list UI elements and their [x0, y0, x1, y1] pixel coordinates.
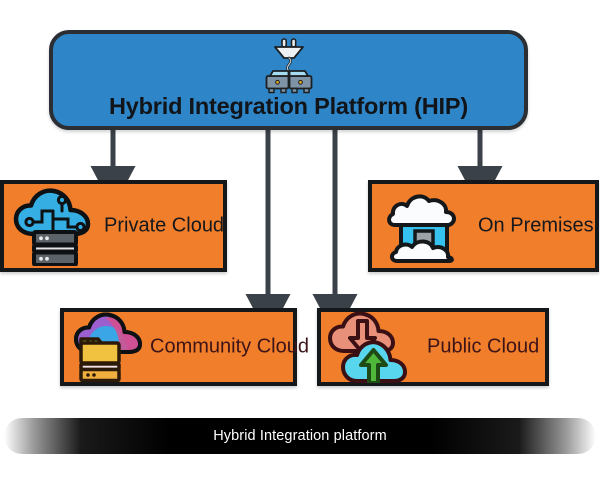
node-public-cloud[interactable]: Public Cloud	[317, 308, 549, 386]
node-label-on-premises: On Premises	[478, 215, 594, 238]
node-label-community-cloud: Community Cloud	[150, 336, 309, 359]
node-on-premises[interactable]: On Premises	[368, 180, 599, 272]
hip-title: Hybrid Integration Platform (HIP)	[53, 93, 524, 120]
caption-bar: Hybrid Integration platform	[4, 418, 596, 454]
node-private-cloud[interactable]: Private Cloud	[0, 180, 227, 272]
cloud-circuit-server-icon	[12, 186, 96, 266]
node-label-public-cloud: Public Cloud	[427, 336, 539, 359]
hybrid-integration-platform-box[interactable]: Hybrid Integration Platform (HIP)	[49, 30, 528, 130]
cloud-folder-server-icon	[72, 312, 146, 382]
cloud-upload-download-icon	[327, 311, 417, 383]
node-community-cloud[interactable]: Community Cloud	[60, 308, 297, 386]
caption-text: Hybrid Integration platform	[213, 428, 387, 444]
on-premises-building-icon	[385, 187, 463, 265]
diagram-canvas: Hybrid Integration Platform (HIP)	[0, 0, 600, 486]
plug-connector-icon	[258, 38, 320, 94]
node-label-private-cloud: Private Cloud	[104, 215, 224, 238]
